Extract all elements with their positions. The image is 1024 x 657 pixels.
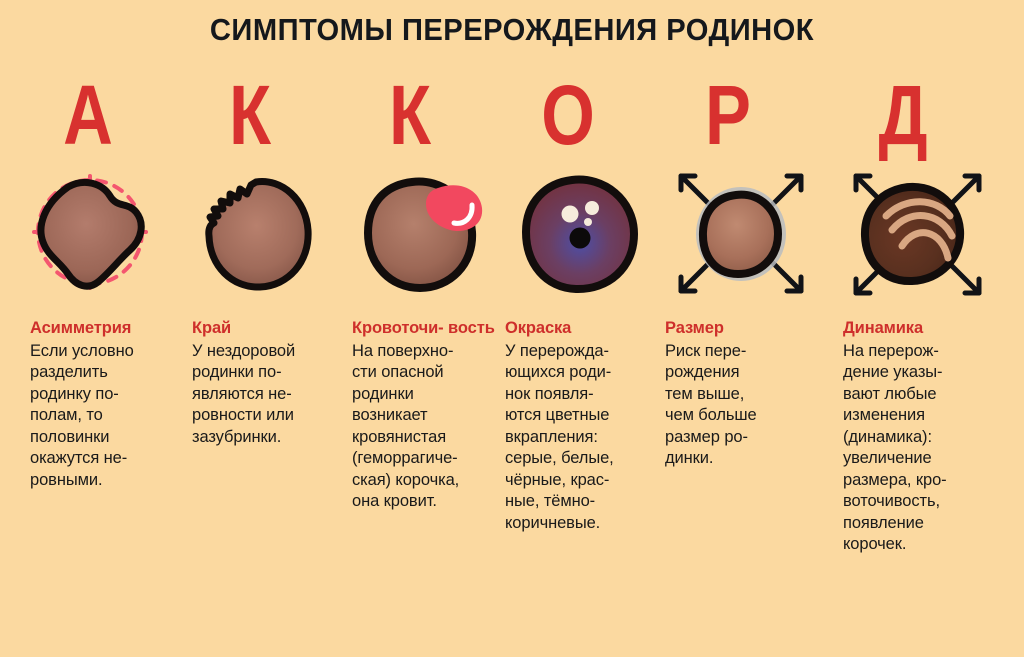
black-speck: [570, 228, 591, 249]
growing-mole-icon: [664, 160, 824, 310]
column-edge: Край У нездоровой родинки по- являются н…: [192, 318, 344, 448]
jagged-edge-mole-icon: [186, 160, 346, 310]
column-body-edge: У нездоровой родинки по- являются не- ро…: [192, 341, 344, 449]
acronym-letter-1: А: [39, 72, 137, 158]
mole-shape: [209, 182, 308, 288]
infographic-poster: СИМПТОМЫ ПЕРЕРОЖДЕНИЯ РОДИНОК А К К О Р …: [0, 0, 1024, 657]
changing-mole-icon: [840, 160, 1000, 310]
column-body-dynamics: На перерож- дение указы- вают любые изме…: [843, 341, 1003, 556]
acronym-letter-5: Р: [679, 72, 777, 158]
acronym-letter-4: О: [519, 72, 617, 158]
bleeding-mole-icon: [346, 160, 506, 310]
column-heading-dynamics: Динамика: [843, 318, 1003, 340]
acronym-row: А К К О Р Д: [0, 72, 1024, 162]
illustration-row: [0, 160, 1024, 310]
acronym-letter-3: К: [361, 72, 459, 158]
white-speck-large: [562, 206, 579, 223]
white-speck-medium: [585, 201, 599, 215]
column-heading-bleeding: Кровоточи- вость: [352, 318, 502, 340]
page-title: СИМПТОМЫ ПЕРЕРОЖДЕНИЯ РОДИНОК: [31, 12, 994, 48]
column-body-size: Риск пере- рождения тем выше, чем больше…: [665, 341, 815, 470]
asymmetric-mole-icon: [18, 160, 178, 310]
acronym-letter-6: Д: [854, 72, 952, 158]
column-asymmetry: Асимметрия Если условно разделить родинк…: [30, 318, 182, 491]
description-columns: Асимметрия Если условно разделить родинк…: [0, 318, 1024, 648]
column-color: Окраска У перерожда- ющихся роди- нок по…: [505, 318, 655, 534]
column-heading-asymmetry: Асимметрия: [30, 318, 182, 340]
column-dynamics: Динамика На перерож- дение указы- вают л…: [843, 318, 1003, 556]
multicolor-mole-icon: [506, 160, 666, 310]
column-heading-edge: Край: [192, 318, 344, 340]
column-body-bleeding: На поверхно- сти опасной родинки возника…: [352, 341, 502, 513]
column-body-asymmetry: Если условно разделить родинку по- полам…: [30, 341, 182, 492]
acronym-letter-2: К: [201, 72, 299, 158]
column-bleeding: Кровоточи- вость На поверхно- сти опасно…: [352, 318, 502, 513]
white-speck-small: [584, 218, 592, 226]
column-body-color: У перерожда- ющихся роди- нок появля- ют…: [505, 341, 655, 535]
mole-shape: [703, 195, 778, 274]
column-heading-size: Размер: [665, 318, 815, 340]
column-heading-color: Окраска: [505, 318, 655, 340]
column-size: Размер Риск пере- рождения тем выше, чем…: [665, 318, 815, 470]
